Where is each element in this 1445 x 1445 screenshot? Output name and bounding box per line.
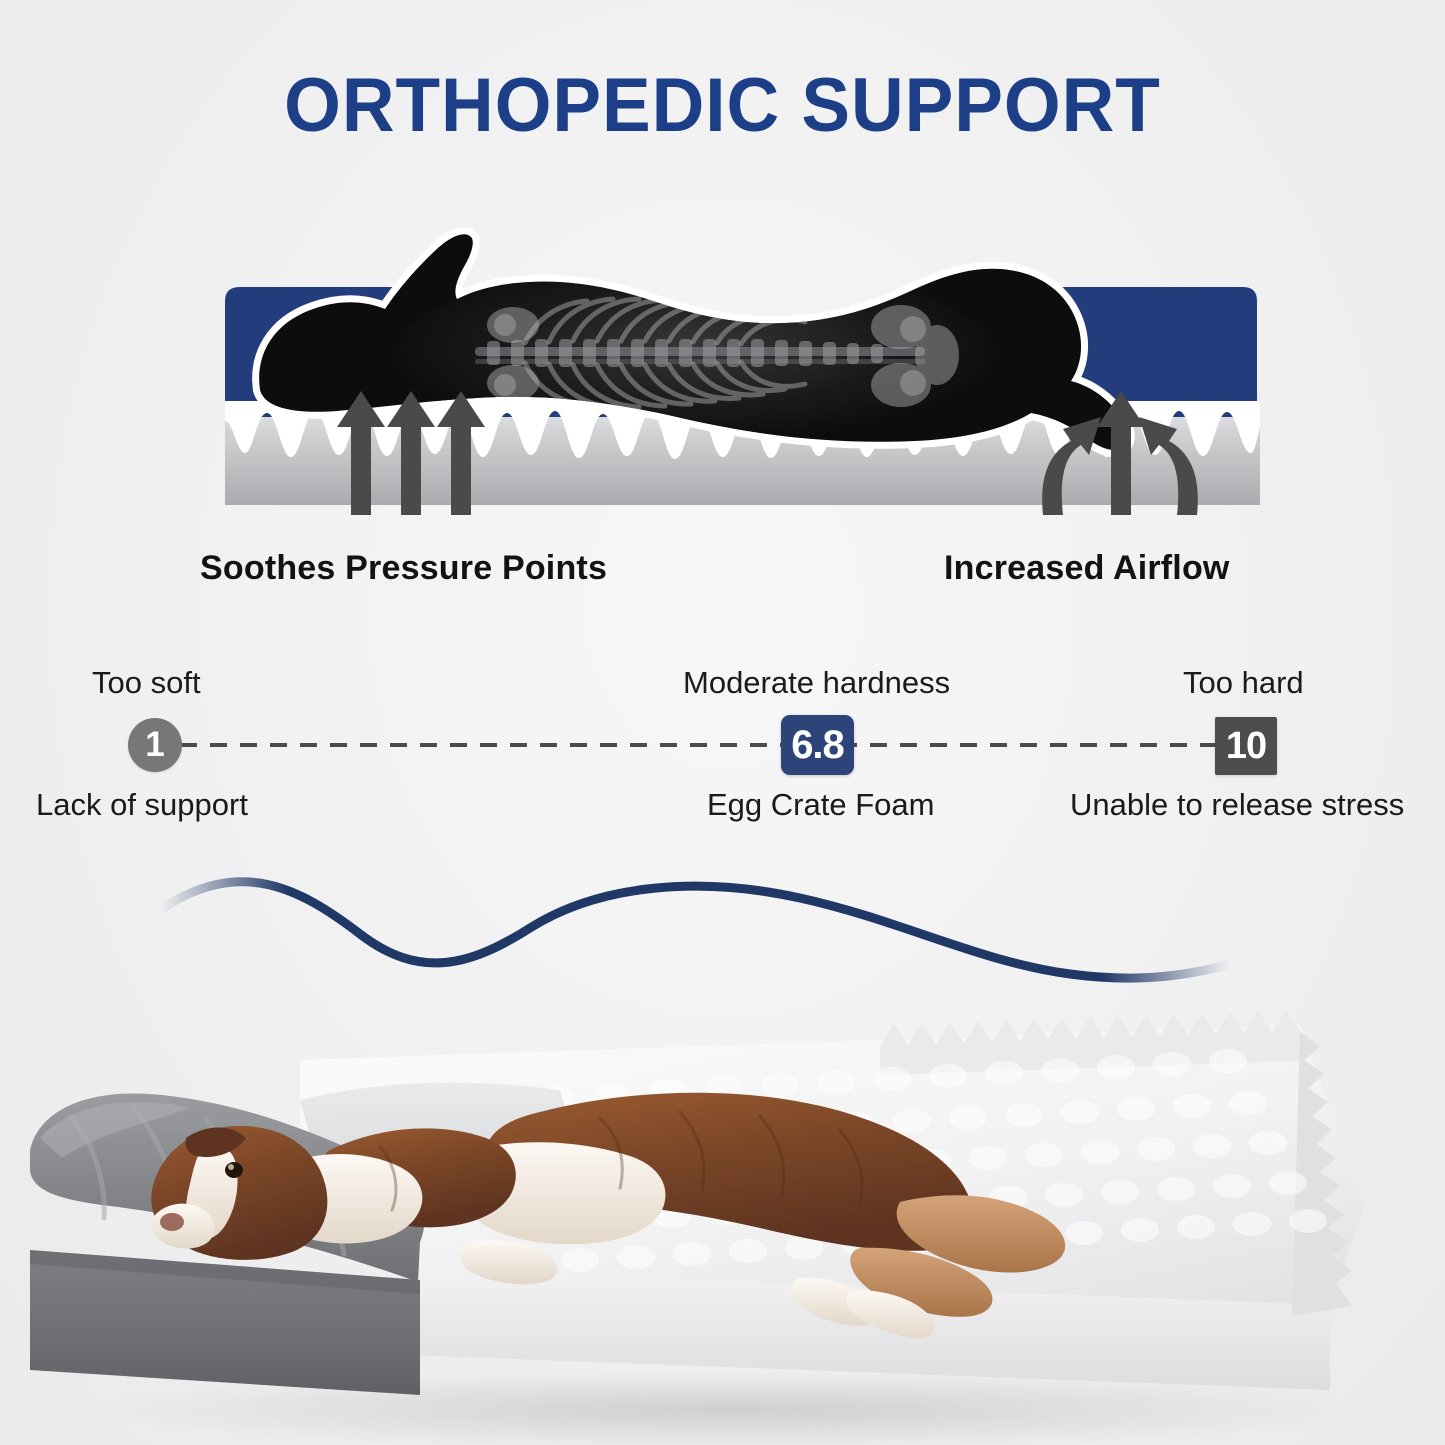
scale-label-egg-crate-foam: Egg Crate Foam	[707, 787, 934, 823]
page-title: ORTHOPEDIC SUPPORT	[29, 62, 1416, 149]
dog-nose	[160, 1213, 184, 1231]
decorative-wave-curve	[160, 882, 1230, 978]
scale-label-too-hard: Too hard	[1183, 665, 1304, 701]
pressure-points-label: Soothes Pressure Points	[200, 549, 607, 588]
infographic-page: ORTHOPEDIC SUPPORT	[0, 0, 1445, 1445]
dog-eye	[225, 1162, 243, 1178]
pressure-arrows	[337, 391, 485, 515]
bed-base	[30, 1250, 420, 1395]
product-photo-scene	[0, 850, 1445, 1445]
foam-cross-section-diagram	[225, 205, 1260, 515]
scale-marker-1: 1	[128, 718, 182, 772]
scale-dashed-line	[150, 743, 1250, 747]
scale-label-unable-to-release-stress: Unable to release stress	[1070, 787, 1404, 823]
scale-label-too-soft: Too soft	[92, 665, 201, 701]
hardness-scale: Too soft Moderate hardness Too hard 1 6.…	[0, 655, 1445, 840]
airflow-label: Increased Airflow	[944, 549, 1230, 588]
scale-marker-6-8: 6.8	[781, 715, 854, 775]
scale-marker-10: 10	[1215, 717, 1277, 775]
scale-label-moderate-hardness: Moderate hardness	[683, 665, 950, 701]
scale-label-lack-of-support: Lack of support	[36, 787, 248, 823]
